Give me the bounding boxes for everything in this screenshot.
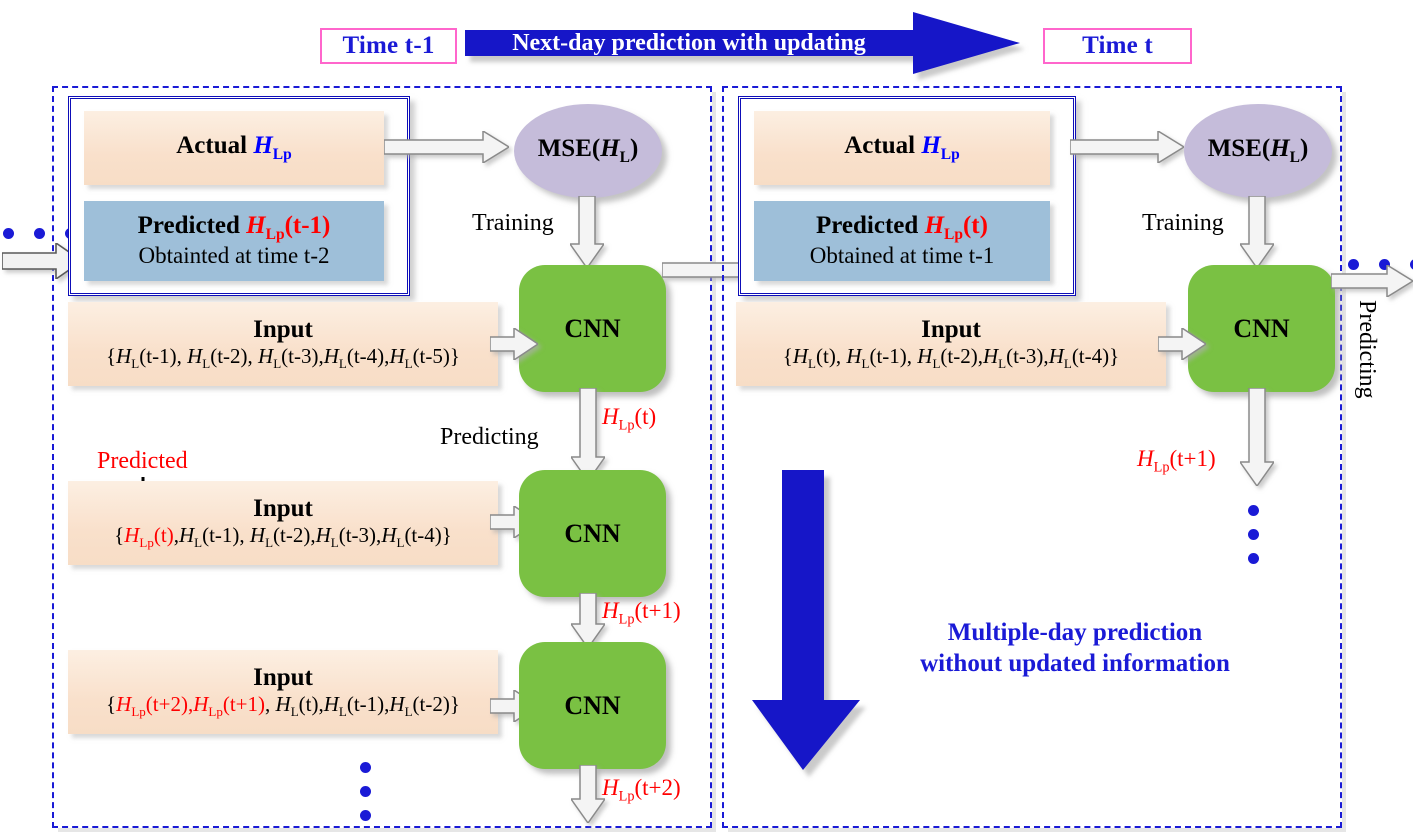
right-mse-label: MSE(HL) [1208,135,1309,167]
left-predicted-box: Predicted HLp(t-1) Obtainted at time t-2 [84,201,384,281]
right-input-1-title: Input [921,316,981,344]
right-predicting-label: Predicting [1353,300,1380,399]
next-day-arrow-banner: Next-day prediction with updating [465,12,1020,74]
right-actual-to-mse-arrow [1070,131,1184,163]
left-cnn3-output-arrow [571,765,605,823]
left-actual-label: Actual HLp [176,132,292,163]
left-cnn-3: CNN [519,642,666,769]
left-mse-label: MSE(HL) [538,135,639,167]
right-mse-node: MSE(HL) [1184,104,1332,198]
left-input-box-2: Input {HLp(t),HL(t-1), HL(t-2),HL(t-3),H… [68,481,498,565]
left-cnn2-to-cnn3-arrow [571,593,605,648]
left-predicted-tag: Predicted [97,448,188,475]
right-predicted-label: Predicted HLp(t) [816,212,988,243]
left-flow-label-2: HLp(t+1) [602,598,681,629]
left-input-2-set: {HLp(t),HL(t-1), HL(t-2),HL(t-3),HL(t-4)… [114,523,452,551]
left-edge-ellipsis [3,228,76,239]
right-actual-label: Actual HLp [844,132,960,163]
multiple-day-big-arrow [752,470,862,775]
left-input-box-3: Input {HLp(t+2),HLp(t+1), HL(t),HL(t-1),… [68,650,498,734]
left-predicted-note: Obtainted at time t-2 [139,243,330,269]
left-input-3-set: {HLp(t+2),HLp(t+1), HL(t),HL(t-1),HL(t-2… [106,692,460,720]
left-flow-label-1: HLp(t) [602,404,656,435]
left-input-box-1: Input {HL(t-1), HL(t-2), HL(t-3),HL(t-4)… [68,302,498,386]
right-cnn-output-arrow [1240,388,1274,486]
right-predicted-box: Predicted HLp(t) Obtained at time t-1 [754,201,1050,281]
time-chip-left: Time t-1 [320,28,457,64]
banner-arrow-label: Next-day prediction with updating [512,30,866,57]
right-cnn-1: CNN [1188,265,1335,392]
multiple-day-caption-line1: Multiple-day prediction [885,617,1265,648]
multiple-day-caption: Multiple-day prediction without updated … [885,617,1265,680]
time-chip-right: Time t [1043,28,1192,64]
left-cnn-3-label: CNN [564,691,620,721]
left-cnn1-to-cnn2-arrow [571,388,605,481]
left-flow-label-3: HLp(t+2) [602,775,681,806]
time-chip-right-label: Time t [1082,32,1153,60]
left-mse-to-cnn-arrow [570,196,604,268]
left-input-3-title: Input [253,664,313,692]
right-cnn-1-label: CNN [1233,314,1289,344]
right-input1-to-cnn-arrow [1158,328,1206,360]
left-actual-box: Actual HLp [84,111,384,185]
right-mse-to-cnn-arrow [1240,196,1274,268]
right-predicted-note: Obtained at time t-1 [810,243,995,269]
time-chip-left-label: Time t-1 [342,32,434,60]
left-predicted-label: Predicted HLp(t-1) [138,212,331,243]
left-actual-to-mse-arrow [384,131,509,163]
left-cnn-2: CNN [519,470,666,597]
left-cnn-1-label: CNN [564,314,620,344]
left-cnn-2-label: CNN [564,519,620,549]
left-training-label: Training [472,210,554,237]
right-flow-label-1: HLp(t+1) [1137,446,1216,477]
left-predicting-label: Predicting [440,424,539,451]
left-input-2-title: Input [253,495,313,523]
right-input-1-set: {HL(t), HL(t-1), HL(t-2),HL(t-3),HL(t-4)… [783,344,1119,372]
right-column-ellipsis [1248,505,1259,564]
right-training-label: Training [1142,210,1224,237]
right-input-box-1: Input {HL(t), HL(t-1), HL(t-2),HL(t-3),H… [736,302,1166,386]
right-outgoing-arrow [1331,265,1413,297]
left-mse-node: MSE(HL) [514,104,662,198]
left-cnn-1: CNN [519,265,666,392]
left-column-ellipsis [360,762,371,821]
left-input-1-title: Input [253,316,313,344]
left-input1-to-cnn1-arrow [490,328,538,360]
right-actual-box: Actual HLp [754,111,1050,185]
multiple-day-caption-line2: without updated information [885,648,1265,679]
left-input-1-set: {HL(t-1), HL(t-2), HL(t-3),HL(t-4),HL(t-… [106,344,460,372]
